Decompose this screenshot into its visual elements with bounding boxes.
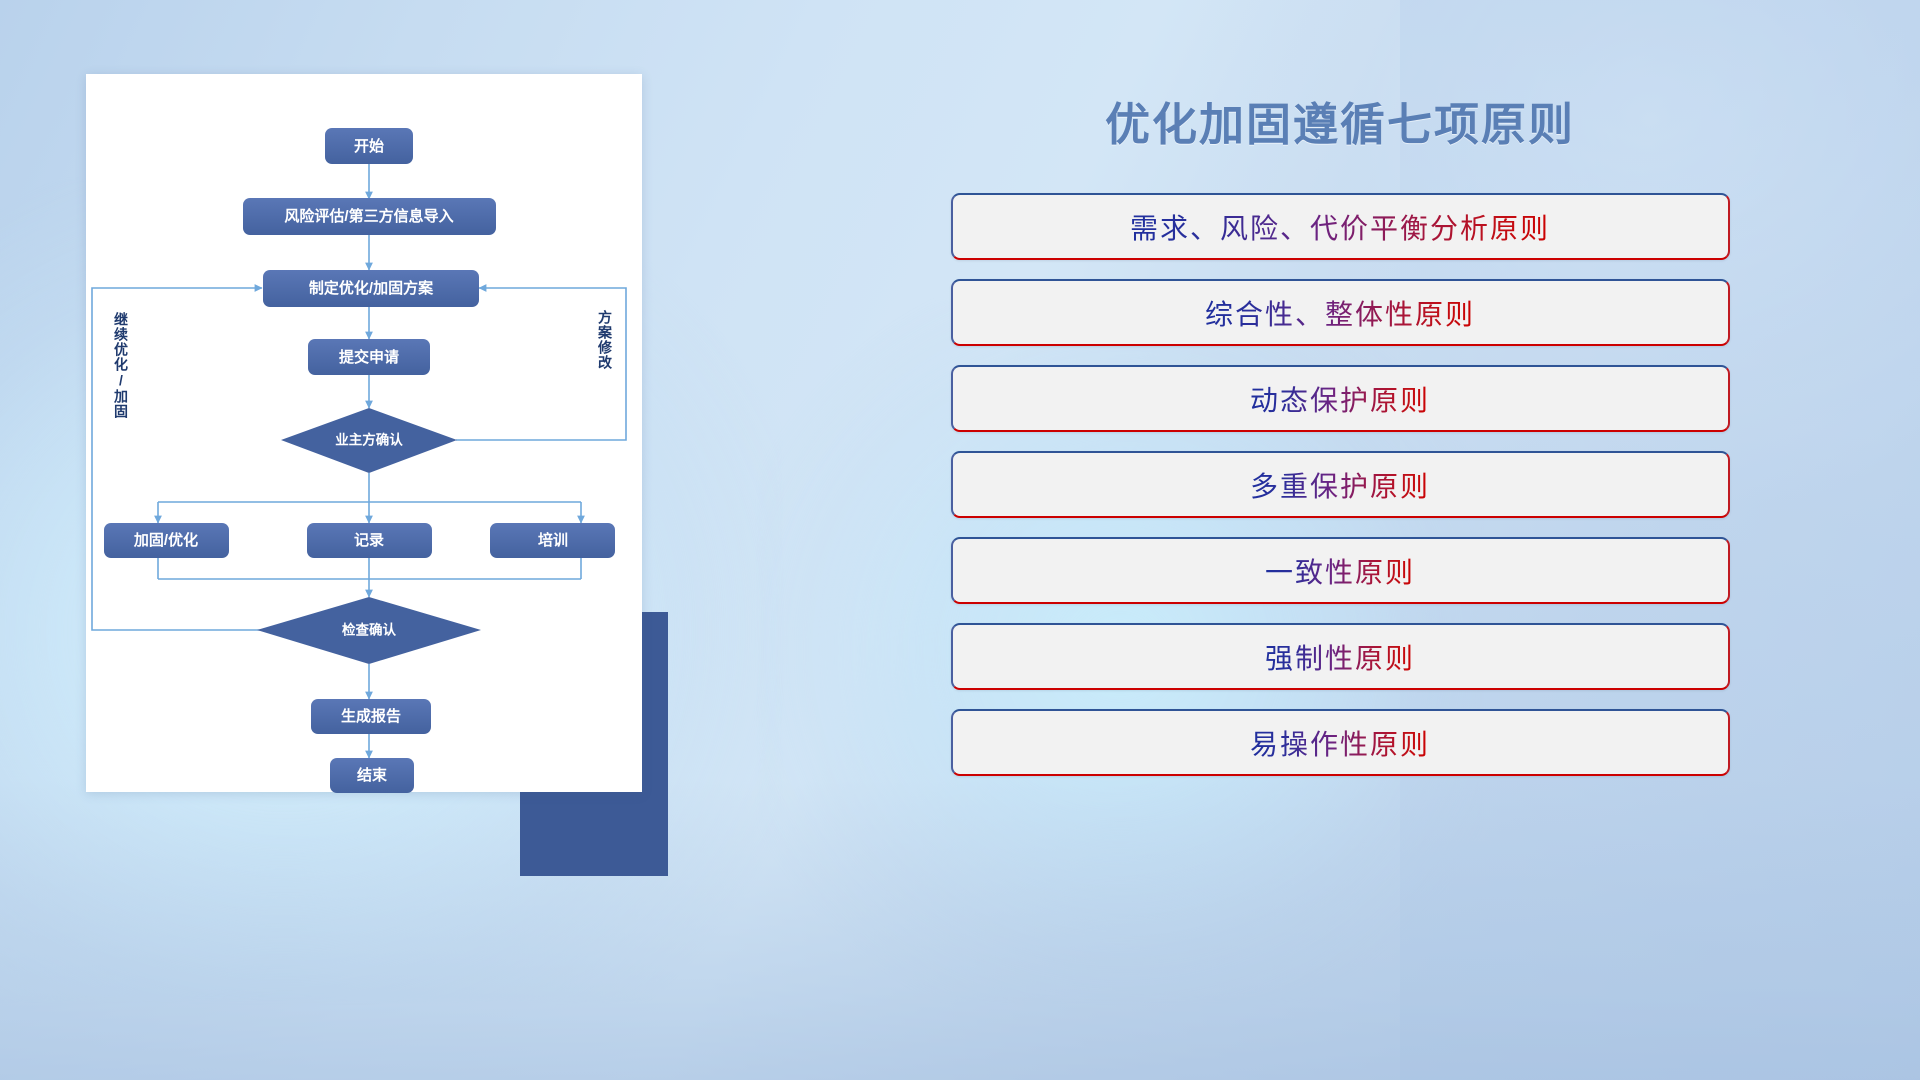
flow-node-report-label: 生成报告	[341, 707, 401, 725]
flow-node-risk-assessment-label: 风险评估/第三方信息导入	[284, 207, 453, 225]
principle-card-6[interactable]: 强制性原则	[951, 623, 1730, 690]
flow-node-inspect[interactable]: 检查确认	[257, 597, 481, 664]
flow-node-risk-assessment[interactable]: 风险评估/第三方信息导入	[243, 198, 496, 235]
flow-node-record-label: 记录	[354, 532, 384, 549]
flow-node-plan-label: 制定优化/加固方案	[309, 279, 434, 297]
principle-card-5-label: 一致性原则	[1265, 551, 1415, 591]
flow-node-plan[interactable]: 制定优化/加固方案	[263, 270, 479, 307]
principle-card-4[interactable]: 多重保护原则	[951, 451, 1730, 518]
flow-edge-label-left-loop: 继续优化/加固	[114, 312, 128, 419]
flow-node-owner-confirm[interactable]: 业主方确认	[281, 408, 457, 473]
principle-card-7[interactable]: 易操作性原则	[951, 709, 1730, 776]
flow-node-training-label: 培训	[538, 531, 568, 549]
principle-card-5[interactable]: 一致性原则	[951, 537, 1730, 604]
flow-node-owner-confirm-label: 业主方确认	[335, 432, 403, 448]
principle-card-1-label: 需求、风险、代价平衡分析原则	[1130, 207, 1550, 247]
flowchart-panel: 开始 风险评估/第三方信息导入 制定优化/加固方案 提交申请 业主方确认 加固/…	[86, 74, 666, 814]
principles-list: 需求、风险、代价平衡分析原则 综合性、整体性原则 动态保护原则 多重保护原则 一…	[830, 193, 1850, 776]
principle-card-3[interactable]: 动态保护原则	[951, 365, 1730, 432]
flow-node-submit[interactable]: 提交申请	[308, 339, 430, 375]
principle-card-3-label: 动态保护原则	[1250, 379, 1430, 419]
flow-node-report[interactable]: 生成报告	[311, 699, 431, 734]
principle-card-1[interactable]: 需求、风险、代价平衡分析原则	[951, 193, 1730, 260]
flow-node-start-label: 开始	[354, 137, 384, 155]
flow-node-record[interactable]: 记录	[307, 523, 432, 558]
principles-panel-title: 优化加固遵循七项原则	[830, 88, 1850, 153]
principle-card-6-label: 强制性原则	[1265, 637, 1415, 677]
flow-node-end-label: 结束	[357, 766, 388, 784]
flowchart-diagram: 开始 风险评估/第三方信息导入 制定优化/加固方案 提交申请 业主方确认 加固/…	[86, 74, 666, 814]
flow-node-submit-label: 提交申请	[339, 348, 399, 366]
principle-card-2[interactable]: 综合性、整体性原则	[951, 279, 1730, 346]
flow-node-training[interactable]: 培训	[490, 523, 615, 558]
flow-node-start[interactable]: 开始	[325, 128, 413, 164]
principle-card-4-label: 多重保护原则	[1250, 465, 1430, 505]
principle-card-7-label: 易操作性原则	[1250, 723, 1430, 763]
flow-node-inspect-label: 检查确认	[342, 622, 396, 638]
flow-node-reinforce-label: 加固/优化	[133, 531, 198, 549]
flow-node-end[interactable]: 结束	[330, 758, 414, 793]
principle-card-2-label: 综合性、整体性原则	[1205, 293, 1475, 333]
flow-node-reinforce[interactable]: 加固/优化	[104, 523, 229, 558]
principles-panel: 优化加固遵循七项原则 需求、风险、代价平衡分析原则 综合性、整体性原则 动态保护…	[830, 70, 1850, 1030]
flow-edge-label-right-loop: 方案修改	[598, 310, 612, 370]
